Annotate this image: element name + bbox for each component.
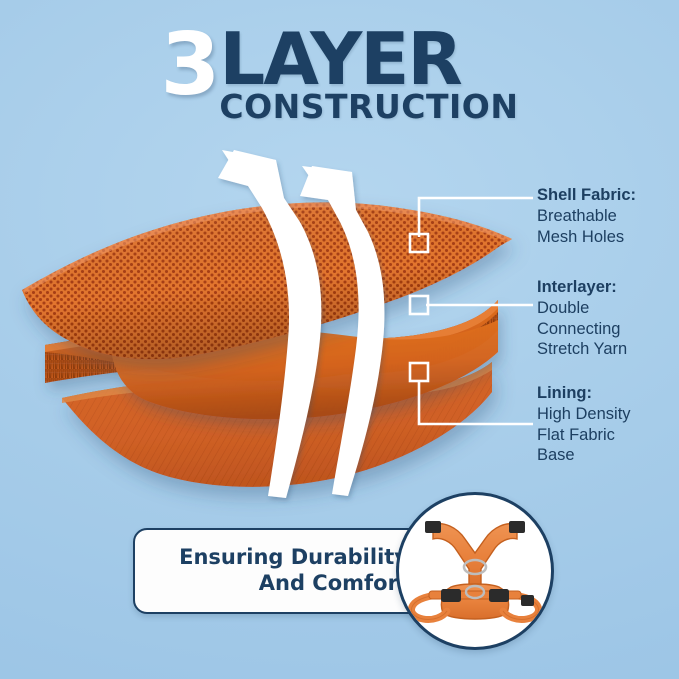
callout-line: Double [537, 298, 677, 319]
callout-line: Flat Fabric [537, 425, 677, 446]
callout-line: Base [537, 445, 677, 466]
tagline-line-2: And Comfort [259, 571, 408, 597]
callout-line: Breathable [537, 206, 677, 227]
callout-line: High Density [537, 404, 677, 425]
callout-shell-fabric: Shell Fabric: Breathable Mesh Holes [537, 185, 677, 247]
tagline-line-1: Ensuring Durability [179, 545, 408, 571]
callout-line: Connecting [537, 319, 677, 340]
callout-title: Shell Fabric: [537, 185, 677, 206]
callout-line: Stretch Yarn [537, 339, 677, 360]
buckle-icon [509, 521, 525, 533]
buckle-icon [521, 595, 534, 606]
infographic-canvas: 3 LAYER CONSTRUCTION [0, 0, 679, 679]
callout-lining: Lining: High Density Flat Fabric Base [537, 383, 677, 466]
callout-line: Mesh Holes [537, 227, 677, 248]
callout-title: Lining: [537, 383, 677, 404]
harness-icon [399, 495, 551, 647]
product-photo-circle [396, 492, 554, 650]
callout-title: Interlayer: [537, 277, 677, 298]
square-marker-interlayer-icon [410, 296, 428, 314]
buckle-icon [441, 589, 461, 602]
buckle-icon [425, 521, 441, 533]
callout-interlayer: Interlayer: Double Connecting Stretch Ya… [537, 277, 677, 360]
tagline-banner: Ensuring Durability And Comfort [133, 528, 428, 614]
buckle-icon [489, 589, 509, 602]
